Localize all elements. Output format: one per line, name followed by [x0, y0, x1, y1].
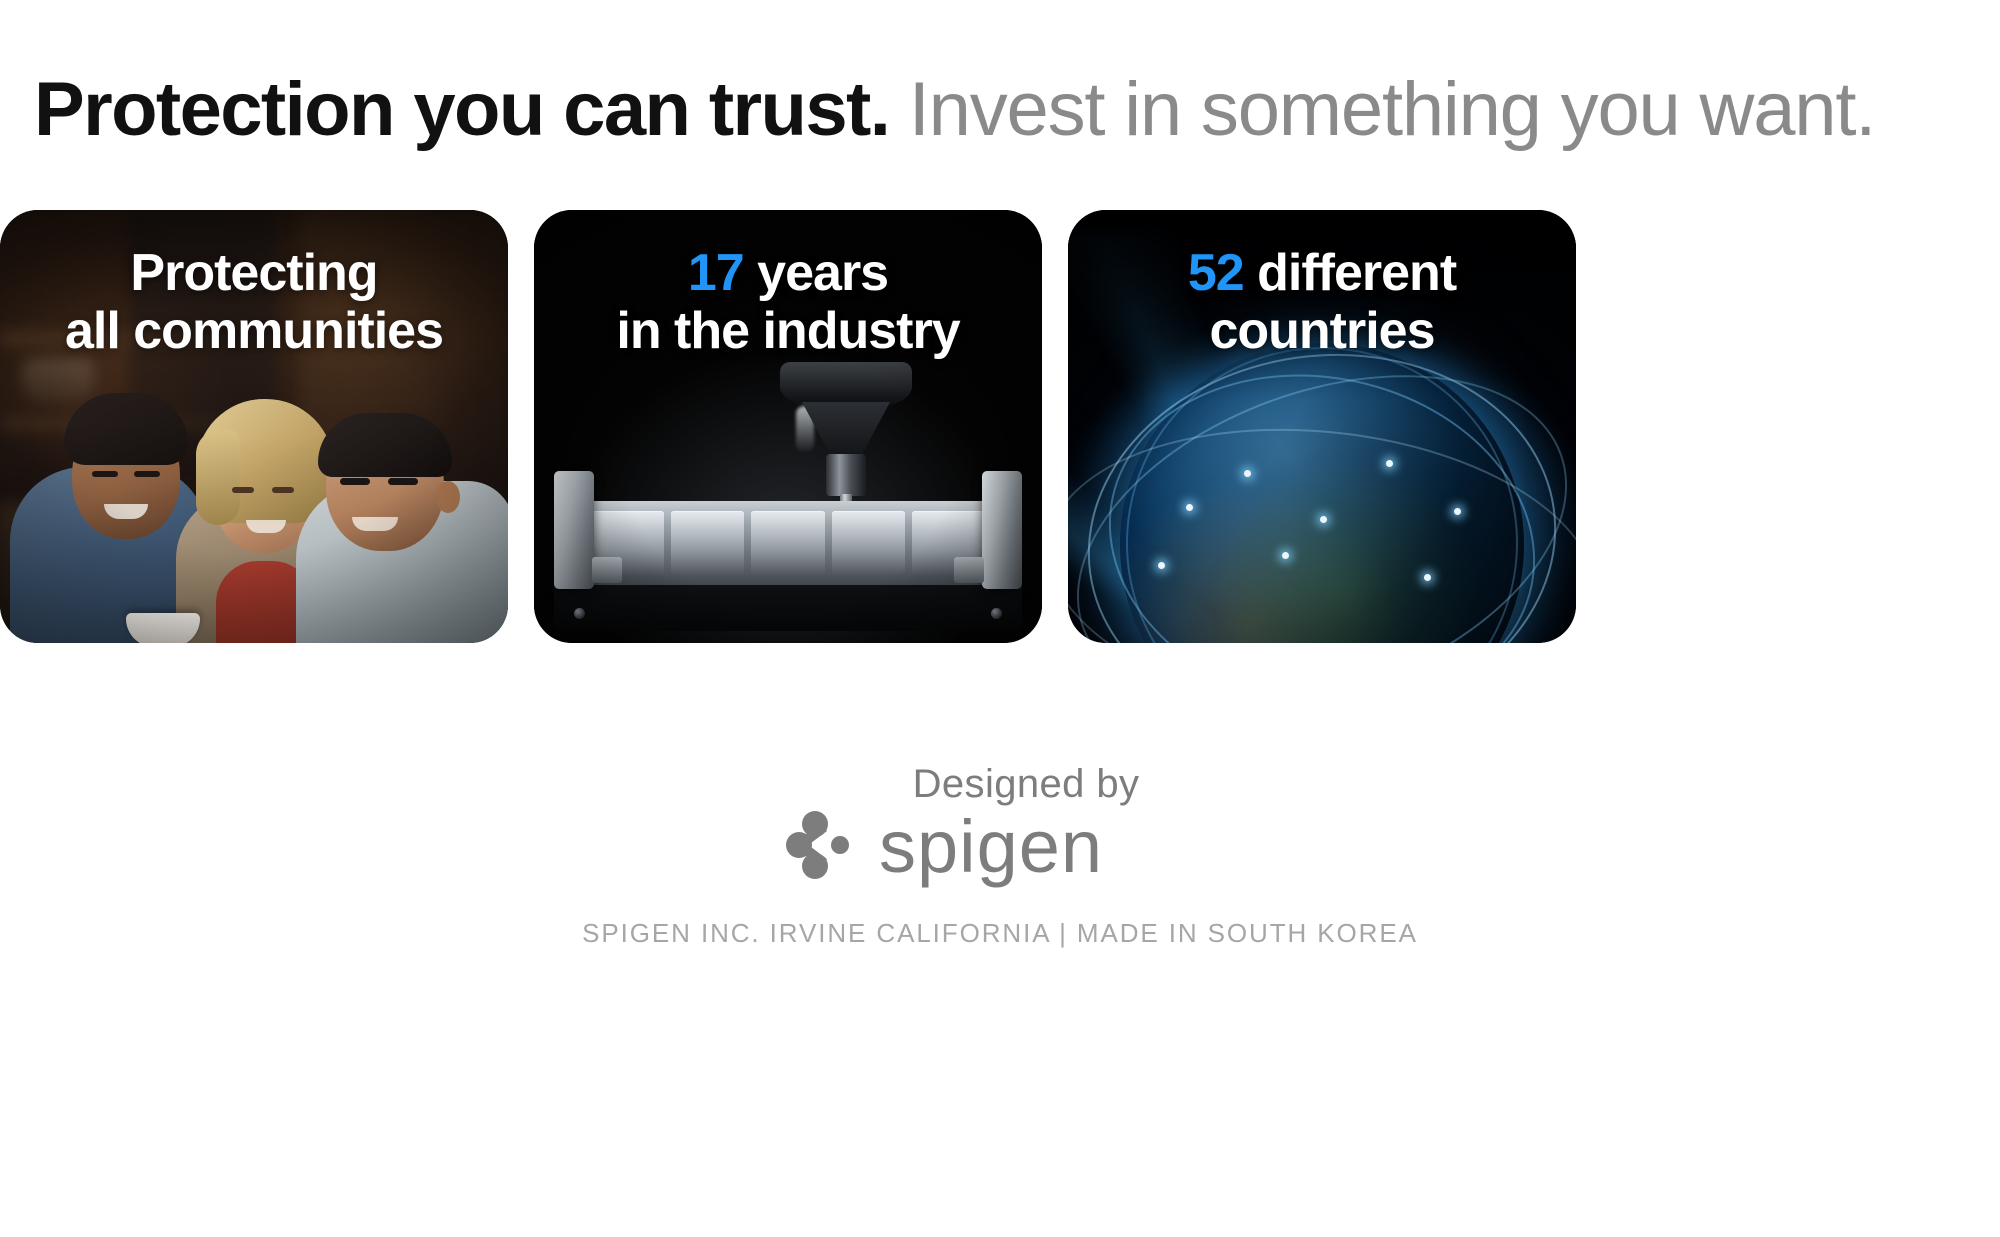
spigen-logo-block: Designed by — [0, 762, 2000, 886]
card-2-caption-line-2: in the industry — [534, 302, 1042, 360]
card-2-caption-line-1-rest: years — [744, 244, 888, 302]
card-3-caption-line-1-rest: different — [1244, 244, 1456, 302]
card-2-caption: 17 years in the industry — [534, 244, 1042, 360]
company-footer-text: SPIGEN INC. IRVINE CALIFORNIA | MADE IN … — [0, 918, 2000, 949]
card-17-years-in-the-industry: 17 years in the industry — [534, 210, 1042, 643]
card-3-caption-line-2: countries — [1068, 302, 1576, 360]
card-1-caption: Protecting all communities — [0, 244, 508, 360]
card-3-caption: 52 different countries — [1068, 244, 1576, 360]
headline-strong-text: Protection you can trust. — [34, 67, 889, 152]
card-protecting-all-communities: Protecting all communities — [0, 210, 508, 643]
card-2-accent-number: 17 — [688, 244, 744, 302]
card-2-caption-line-1: 17 years — [534, 244, 1042, 302]
marketing-infographic-page: Protection you can trust. Invest in some… — [0, 0, 2000, 1237]
page-headline: Protection you can trust. Invest in some… — [34, 72, 1875, 148]
spigen-wordmark: spigen — [879, 814, 1103, 881]
card-3-accent-number: 52 — [1188, 244, 1244, 302]
spigen-logo-inner: Designed by — [785, 762, 1215, 886]
card-3-caption-line-1: 52 different — [1068, 244, 1576, 302]
feature-card-row: Protecting all communities — [0, 210, 1568, 643]
spigen-brand-row: spigen — [785, 809, 1215, 886]
headline-light-text: Invest in something you want. — [909, 67, 1875, 152]
designed-by-label: Designed by — [837, 762, 1215, 807]
card-1-caption-line-1: Protecting — [0, 244, 508, 302]
card-52-different-countries: 52 different countries — [1068, 210, 1576, 643]
card-1-caption-line-2: all communities — [0, 302, 508, 360]
spigen-molecule-logo-icon — [785, 809, 863, 886]
